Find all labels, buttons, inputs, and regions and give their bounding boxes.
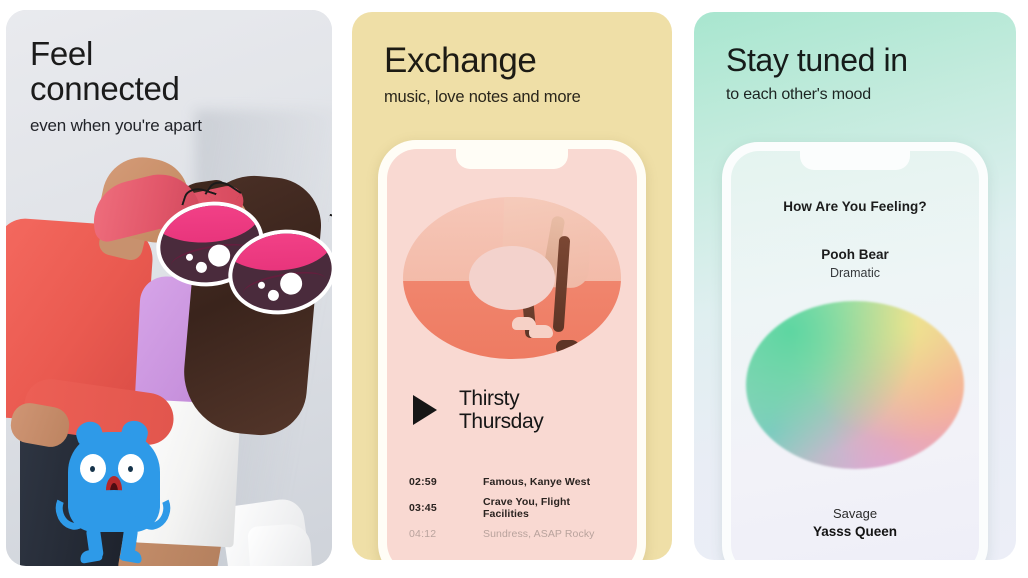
art-shoe-2 (529, 325, 553, 338)
vinyl-center-label (469, 246, 555, 310)
panel-3-subtitle: to each other's mood (726, 86, 908, 104)
woman-boot-back (247, 523, 312, 566)
partner-mood: Dramatic (731, 266, 979, 280)
panel-1-title-line1: Feel (30, 36, 202, 71)
album-artwork[interactable] (403, 197, 621, 359)
mood-question: How Are You Feeling? (731, 199, 979, 214)
screenshot-panel-feel-connected[interactable]: Feel connected even when you're apart (6, 10, 332, 566)
blue-mustache-mascot (54, 418, 172, 566)
self-mood-label: Savage (731, 506, 979, 521)
track-name: Crave You, Flight Facilities (483, 496, 615, 520)
phone-screen: Thirsty Thursday 02:59 Famous, Kanye Wes… (387, 149, 637, 560)
track-duration: 03:45 (409, 502, 483, 514)
phone-mockup-music-player: Thirsty Thursday 02:59 Famous, Kanye Wes… (378, 140, 646, 560)
panel-2-subtitle: music, love notes and more (384, 88, 581, 107)
mascot-pupil (128, 466, 133, 472)
phone-notch (456, 149, 568, 169)
now-playing-row: Thirsty Thursday (387, 387, 637, 433)
track-title-line1: Thirsty (459, 387, 543, 410)
track-duration: 02:59 (409, 476, 483, 488)
phone-mockup-mood: How Are You Feeling? Pooh Bear Dramatic … (722, 142, 988, 560)
art-shoe-3 (556, 340, 580, 353)
track-name: Famous, Kanye West (483, 476, 590, 488)
phone-notch (800, 151, 910, 170)
mood-gradient-blob[interactable] (746, 301, 964, 469)
mascot-foot-right (119, 548, 143, 564)
panel-2-heading-block: Exchange music, love notes and more (384, 42, 581, 107)
panel-2-title: Exchange (384, 42, 581, 80)
mascot-pupil (90, 466, 95, 472)
self-mood-value: Yasss Queen (731, 524, 979, 539)
mascot-mustache (74, 490, 154, 522)
panel-1-heading-block: Feel connected even when you're apart (30, 36, 202, 136)
track-list-item[interactable]: 02:59 Famous, Kanye West (409, 469, 615, 495)
track-list-item[interactable]: 03:45 Crave You, Flight Facilities (409, 495, 615, 521)
self-mood-block: Savage Yasss Queen (731, 506, 979, 539)
track-duration: 04:12 (409, 528, 483, 540)
panel-1-title-line2: connected (30, 71, 202, 106)
track-list-item[interactable]: 04:12 Sundress, ASAP Rocky (409, 521, 615, 547)
phone-screen: How Are You Feeling? Pooh Bear Dramatic … (731, 151, 979, 560)
track-title-block: Thirsty Thursday (459, 387, 543, 433)
app-store-screenshot-gallery: Feel connected even when you're apart Ex… (0, 0, 1028, 578)
panel-3-heading-block: Stay tuned in to each other's mood (726, 42, 908, 104)
panel-1-subtitle: even when you're apart (30, 116, 202, 136)
track-title-line2: Thursday (459, 410, 543, 433)
track-list: 02:59 Famous, Kanye West 03:45 Crave You… (387, 469, 637, 547)
screenshot-panel-exchange[interactable]: Exchange music, love notes and more (352, 12, 672, 560)
panel-3-title: Stay tuned in (726, 42, 908, 78)
screenshot-panel-stay-tuned-in[interactable]: Stay tuned in to each other's mood How A… (694, 12, 1016, 560)
play-icon[interactable] (413, 395, 437, 425)
track-name: Sundress, ASAP Rocky (483, 528, 595, 540)
partner-mood-block: Pooh Bear Dramatic (731, 247, 979, 280)
mascot-eye-left (80, 454, 106, 483)
mascot-foot-left (79, 548, 103, 564)
mascot-eye-right (118, 454, 144, 483)
partner-name: Pooh Bear (731, 247, 979, 262)
